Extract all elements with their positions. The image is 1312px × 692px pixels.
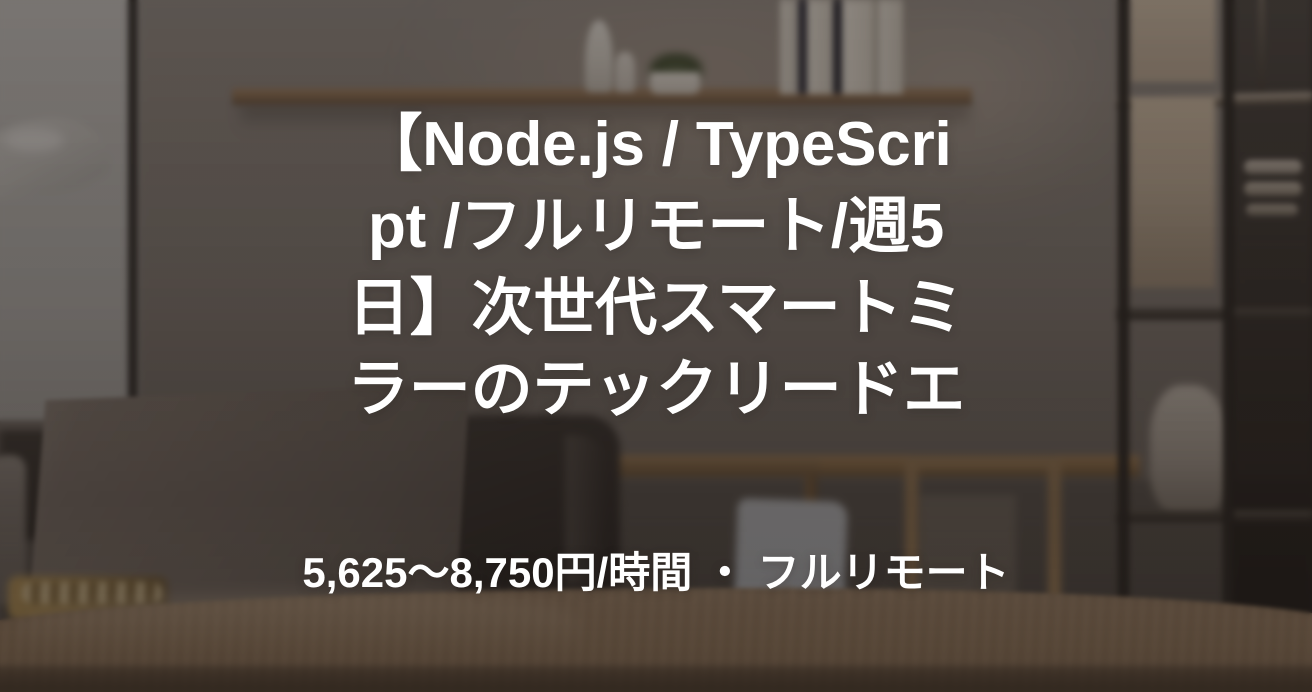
rate-and-workstyle-subtitle: 5,625〜8,750円/時間 ・ フルリモート (0, 548, 1312, 598)
og-card: 【Node.js / TypeScript /フルリモート/週5日】次世代スマー… (0, 0, 1312, 692)
page-title: 【Node.js / TypeScript /フルリモート/週5日】次世代スマー… (346, 104, 966, 431)
